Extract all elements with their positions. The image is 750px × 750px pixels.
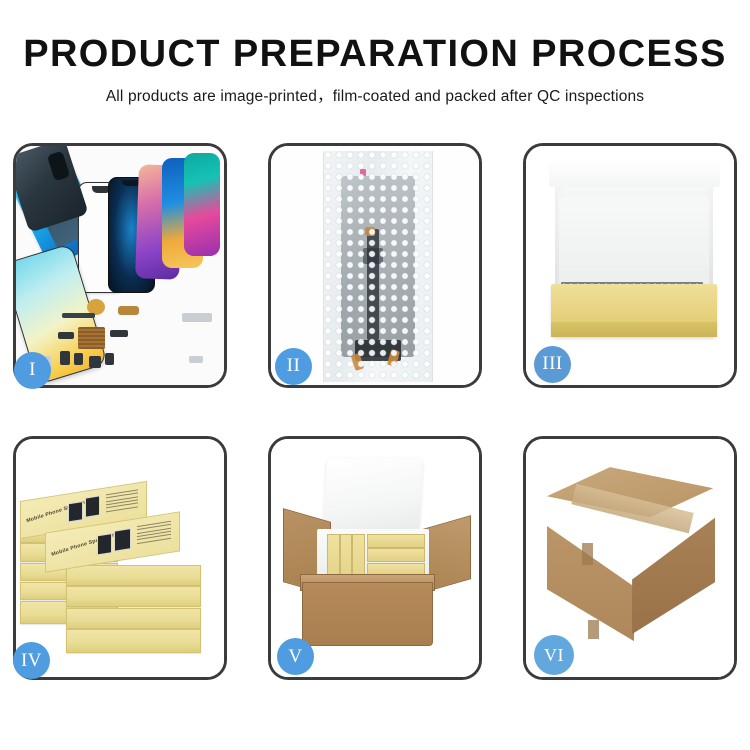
phone-screen-teal-icon [184,153,219,256]
process-step-panel-6[interactable]: VI [523,436,737,681]
small-part-b-icon [110,330,129,337]
box-screen-art-2 [85,496,101,518]
bubble-wrap-bag-icon [323,151,433,382]
step-badge-4: IV [13,642,50,679]
small-part-d-icon [74,353,82,365]
step-4-image: Mobile Phone Spare Parts Mobile Phone Sp… [16,439,224,678]
small-part-a-icon [58,332,75,339]
process-step-panel-3[interactable]: III [523,143,737,388]
screws-icon [189,356,204,363]
box-screen-art-1 [69,501,83,522]
carton-body-icon [302,582,433,646]
product-preparation-page: PRODUCT PREPARATION PROCESS All products… [0,0,750,750]
box-spec-lines [106,489,138,514]
box-spec-lines [137,521,172,547]
step-badge-1: I [14,352,51,389]
carton-seam-top [582,543,592,564]
step-2-image [271,146,479,385]
stacked-box [66,629,201,652]
yellow-box-item [367,534,425,548]
stacked-box [66,608,201,629]
stacked-box [66,565,201,586]
foam-lid-icon [323,458,423,537]
logic-board-icon [78,327,105,348]
kraft-box-front-edge [551,322,717,336]
step-1-image [16,146,224,385]
step-badge-2: II [275,348,312,385]
box-screen-art-1 [97,533,112,556]
process-step-panel-4[interactable]: Mobile Phone Spare Parts Mobile Phone Sp… [13,436,227,681]
bubble-texture [324,151,432,382]
process-step-grid: I II [13,143,737,680]
box-screen-art-2 [114,528,131,552]
process-step-panel-5[interactable]: V [268,436,482,681]
page-title: PRODUCT PREPARATION PROCESS [0,0,750,75]
step-badge-6: VI [534,635,574,675]
process-step-panel-2[interactable]: II [268,143,482,388]
flex-cable-icon [118,306,139,316]
small-part-c-icon [60,351,70,365]
process-step-panel-1[interactable]: I [13,143,227,388]
step-badge-5: V [277,638,314,675]
antenna-part-icon [62,313,95,318]
small-part-e-icon [105,353,113,365]
stacked-box [66,586,201,607]
yellow-box-item [367,548,425,562]
step-badge-3: III [534,346,571,383]
camera-part-icon [89,356,101,368]
page-header: PRODUCT PREPARATION PROCESS All products… [0,0,750,106]
carton-seam-bottom [588,620,598,639]
tool-part-icon [182,313,211,323]
foam-sheet-icon [559,198,709,293]
page-subtitle: All products are image-printed，film-coat… [0,75,750,106]
